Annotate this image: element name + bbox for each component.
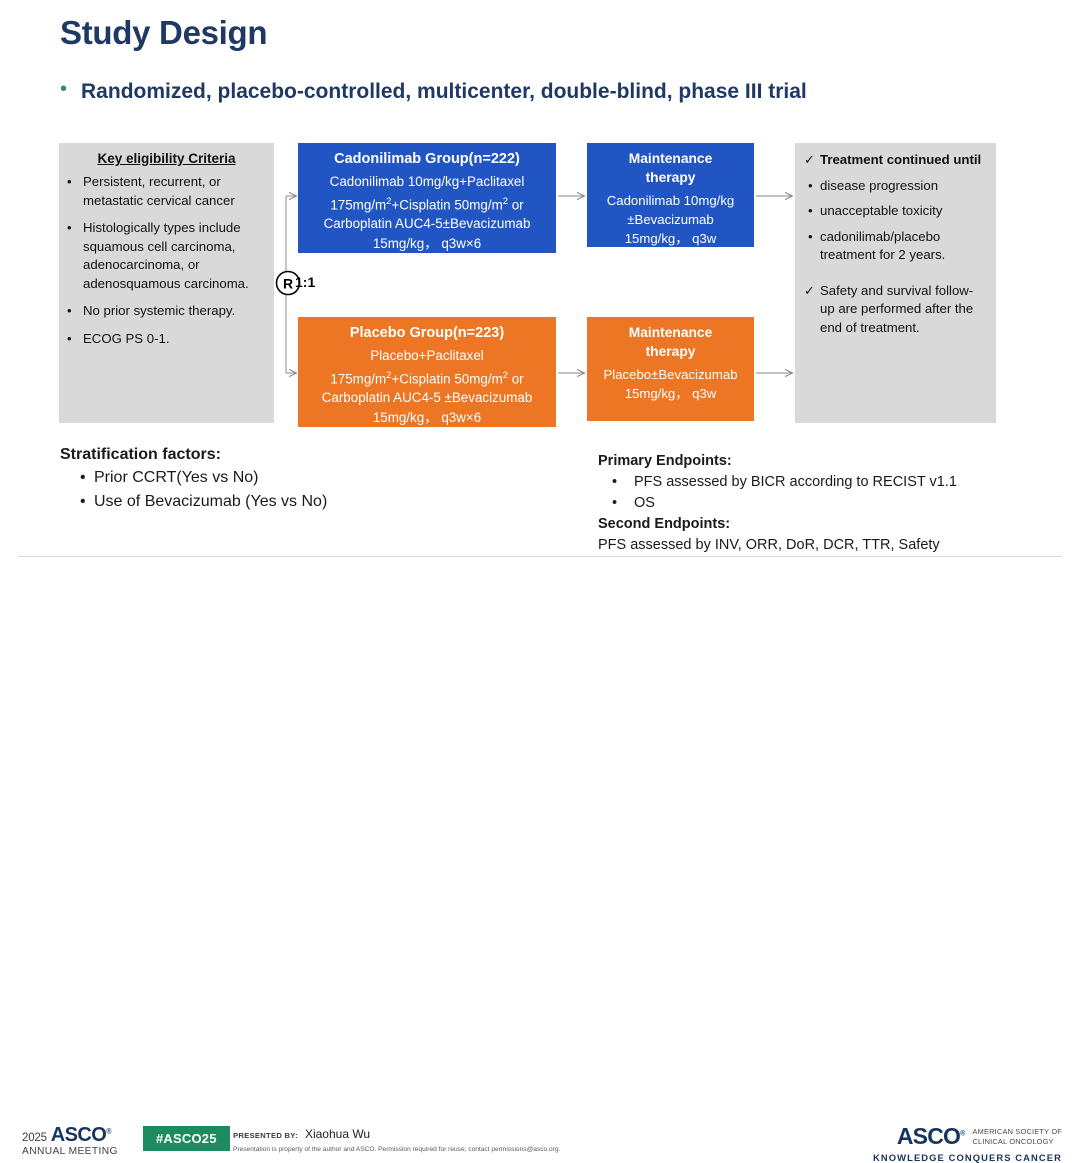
list-item: • Use of Bevacizumab (Yes vs No) (60, 490, 480, 514)
regimen-line-4: 15mg/kg， q3w×6 (305, 408, 549, 428)
registered-mark-icon: ® (960, 1130, 964, 1137)
regimen-line-2: 175mg/m2+Cisplatin 50mg/m2 or (305, 366, 549, 389)
bullet-icon: • (67, 302, 83, 321)
divider (804, 272, 987, 282)
cadonilimab-arm-heading: Cadonilimab Group(n=222) (305, 149, 549, 169)
presented-by-block: PRESENTED BY: Xiaohua Wu Presentation is… (233, 1127, 653, 1154)
maintenance-heading: Maintenance therapy (594, 149, 747, 187)
bullet-icon: • (80, 490, 94, 514)
cadonilimab-arm-box: Cadonilimab Group(n=222) Cadonilimab 10m… (298, 143, 556, 253)
placebo-arm-regimen: Placebo+Paclitaxel 175mg/m2+Cisplatin 50… (305, 346, 549, 427)
bullet-icon: • (67, 173, 83, 210)
svg-text:R: R (283, 276, 293, 292)
logo-year: 2025 (22, 1132, 47, 1144)
regimen-line-3: Carboplatin AUC4-5±Bevacizumab (305, 214, 549, 234)
maintenance-regimen: Placebo±Bevacizumab 15mg/kg， q3w (594, 365, 747, 403)
key-eligibility-criteria-panel: Key eligibility Criteria • Persistent, r… (59, 143, 274, 423)
logo-wordmark: ASCO® (51, 1124, 111, 1147)
bullet-icon: • (80, 466, 94, 490)
maintenance-line-3: 15mg/kg， q3w (594, 229, 747, 248)
list-item: • OS (598, 493, 1038, 514)
cadonilimab-maintenance-box: Maintenance therapy Cadonilimab 10mg/kg … (587, 143, 754, 247)
list-item: • Prior CCRT(Yes vs No) (60, 466, 480, 490)
list-item: • No prior systemic therapy. (67, 302, 266, 321)
regimen-line-3: Carboplatin AUC4-5 ±Bevacizumab (305, 388, 549, 408)
logo-wordmark: ASCO® (897, 1123, 965, 1150)
check-icon: ✓ (804, 282, 820, 338)
second-endpoints-heading: Second Endpoints: (598, 514, 1038, 535)
list-item: • PFS assessed by BICR according to RECI… (598, 472, 1038, 493)
regimen-line-1: Cadonilimab 10mg/kg+Paclitaxel (305, 172, 549, 192)
asco-annual-meeting-logo: 2025 ASCO® ANNUAL MEETING (22, 1124, 137, 1157)
presented-by-line: PRESENTED BY: Xiaohua Wu (233, 1127, 653, 1141)
cadonilimab-arm-regimen: Cadonilimab 10mg/kg+Paclitaxel 175mg/m2+… (305, 172, 549, 253)
maintenance-line-1: Cadonilimab 10mg/kg (594, 191, 747, 210)
criteria-title: Key eligibility Criteria (67, 151, 266, 166)
logo-line-1: ASCO® AMERICAN SOCIETY OF CLINICAL ONCOL… (873, 1123, 1062, 1150)
bullet-icon: • (612, 472, 634, 493)
stratification-heading: Stratification factors: (60, 443, 480, 466)
list-item: • unacceptable toxicity (804, 202, 987, 221)
regimen-line-1: Placebo+Paclitaxel (305, 346, 549, 366)
logo-annual-meeting-text: ANNUAL MEETING (22, 1146, 137, 1157)
maintenance-line-2: ±Bevacizumab (594, 210, 747, 229)
list-item: • ECOG PS 0-1. (67, 330, 266, 349)
randomization-ratio-label: 1:1 (295, 274, 315, 290)
list-item: • Histologically types include squamous … (67, 219, 266, 293)
endpoints-block: Primary Endpoints: • PFS assessed by BIC… (598, 451, 1038, 556)
bullet-icon: • (67, 330, 83, 349)
logo-society-name: AMERICAN SOCIETY OF CLINICAL ONCOLOGY (973, 1127, 1063, 1145)
bullet-icon: • (804, 177, 820, 196)
maintenance-line-2: 15mg/kg， q3w (594, 384, 747, 403)
placebo-arm-heading: Placebo Group(n=223) (305, 323, 549, 343)
criteria-item-text: ECOG PS 0-1. (83, 330, 266, 349)
presenter-name: Xiaohua Wu (305, 1127, 370, 1141)
logo-tagline: KNOWLEDGE CONQUERS CANCER (873, 1152, 1062, 1163)
check-icon: ✓ (804, 151, 820, 170)
maintenance-line-1: Placebo±Bevacizumab (594, 365, 747, 384)
primary-endpoints-heading: Primary Endpoints: (598, 451, 1038, 472)
bullet-icon: • (804, 228, 820, 265)
hashtag-badge: #ASCO25 (143, 1126, 230, 1151)
bullet-icon: • (67, 219, 83, 293)
presented-by-label: PRESENTED BY: (233, 1131, 298, 1140)
second-endpoints-text: PFS assessed by INV, ORR, DoR, DCR, TTR,… (598, 535, 1038, 556)
bullet-icon: • (612, 493, 634, 514)
treatment-outcomes-panel: ✓ Treatment continued until • disease pr… (795, 143, 996, 423)
outcomes-heading-2: ✓ Safety and survival follow-up are perf… (804, 282, 987, 338)
logo-line-1: 2025 ASCO® (22, 1124, 137, 1147)
regimen-line-2: 175mg/m2+Cisplatin 50mg/m2 or (305, 192, 549, 215)
list-item: • disease progression (804, 177, 987, 196)
criteria-item-text: Histologically types include squamous ce… (83, 219, 266, 293)
slide-footer: 2025 ASCO® ANNUAL MEETING #ASCO25 PRESEN… (0, 557, 1080, 608)
criteria-item-text: No prior systemic therapy. (83, 302, 266, 321)
placebo-maintenance-box: Maintenance therapy Placebo±Bevacizumab … (587, 317, 754, 421)
maintenance-heading: Maintenance therapy (594, 323, 747, 361)
regimen-line-4: 15mg/kg， q3w×6 (305, 234, 549, 254)
list-item: • cadonilimab/placebo treatment for 2 ye… (804, 228, 987, 265)
stratification-factors-block: Stratification factors: • Prior CCRT(Yes… (60, 443, 480, 514)
list-item: • Persistent, recurrent, or metastatic c… (67, 173, 266, 210)
maintenance-regimen: Cadonilimab 10mg/kg ±Bevacizumab 15mg/kg… (594, 191, 747, 248)
criteria-item-text: Persistent, recurrent, or metastatic cer… (83, 173, 266, 210)
permission-note: Presentation is property of the author a… (233, 1145, 653, 1154)
asco-society-logo: ASCO® AMERICAN SOCIETY OF CLINICAL ONCOL… (873, 1123, 1062, 1163)
outcomes-heading-1: ✓ Treatment continued until (804, 151, 987, 170)
bullet-icon: • (804, 202, 820, 221)
placebo-arm-box: Placebo Group(n=223) Placebo+Paclitaxel … (298, 317, 556, 427)
criteria-list: • Persistent, recurrent, or metastatic c… (67, 173, 266, 348)
registered-mark-icon: ® (106, 1128, 111, 1135)
